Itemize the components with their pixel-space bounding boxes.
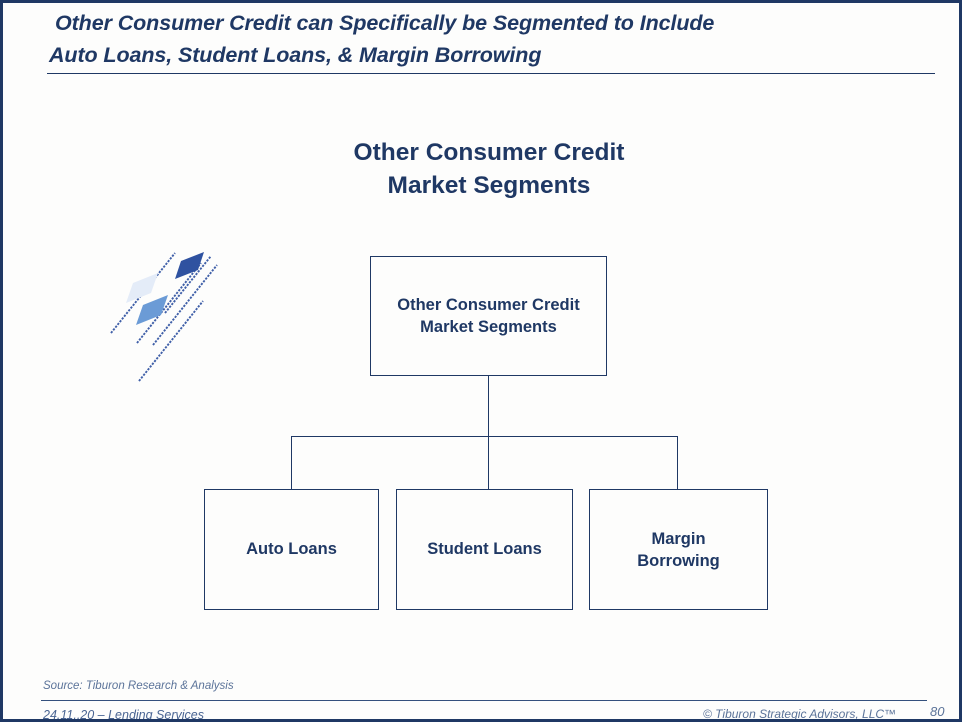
- node-margin-borrowing[interactable]: Margin Borrowing: [589, 489, 768, 610]
- connector-root-vertical: [488, 376, 489, 437]
- node-root-label-line-1: Other Consumer Credit: [397, 294, 579, 316]
- org-chart-diagram: Other Consumer Credit Market Segments Au…: [3, 3, 962, 722]
- source-note: Source: Tiburon Research & Analysis: [43, 680, 234, 692]
- connector-horizontal-bus: [291, 436, 678, 437]
- connector-branch-middle: [488, 436, 489, 489]
- node-root-label-line-2: Market Segments: [397, 316, 579, 338]
- node-other-consumer-credit-market-segments[interactable]: Other Consumer Credit Market Segments: [370, 256, 607, 376]
- connector-branch-right: [677, 436, 678, 489]
- node-student-loans[interactable]: Student Loans: [396, 489, 573, 610]
- node-auto-loans-label: Auto Loans: [246, 540, 337, 559]
- node-margin-borrowing-label-line-2: Borrowing: [637, 550, 720, 572]
- footer-deck-label: 24.11..20 – Lending Services: [43, 708, 204, 722]
- page-number: 80: [930, 704, 944, 719]
- node-student-loans-label: Student Loans: [427, 540, 542, 559]
- slide-canvas: Other Consumer Credit can Specifically b…: [0, 0, 962, 722]
- source-divider-rule: [41, 700, 927, 701]
- footer-copyright: © Tiburon Strategic Advisors, LLC™: [703, 707, 896, 721]
- node-auto-loans[interactable]: Auto Loans: [204, 489, 379, 610]
- connector-branch-left: [291, 436, 292, 489]
- node-margin-borrowing-label-line-1: Margin: [637, 528, 720, 550]
